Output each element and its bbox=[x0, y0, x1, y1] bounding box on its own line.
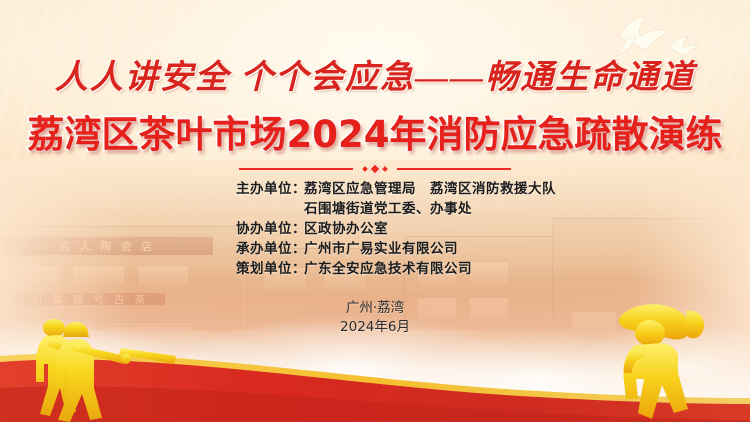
organizer-colon: ： bbox=[292, 259, 304, 279]
organizer-row: 策划单位 ： 广东全安应急技术有限公司 bbox=[0, 259, 750, 279]
organizer-label bbox=[206, 199, 292, 219]
organizer-row: 石围塘街道党工委、办事处 bbox=[0, 199, 750, 219]
organizer-value: 广州市广易实业有限公司 bbox=[304, 239, 544, 259]
divider-small-diamond bbox=[382, 166, 388, 172]
organizer-row: 协办单位 ： 区政协办公室 bbox=[0, 219, 750, 239]
organizer-label: 主办单位 bbox=[206, 179, 292, 199]
organizer-label: 承办单位 bbox=[206, 239, 292, 259]
divider-ornament bbox=[353, 163, 397, 175]
divider-diamond-icon bbox=[368, 162, 382, 176]
organizer-value: 区政协办公室 bbox=[304, 219, 544, 239]
organizer-colon: ： bbox=[292, 219, 304, 239]
organizer-colon bbox=[292, 199, 304, 219]
poster-content: 人人讲安全 个个会应急——畅通生命通道 荔湾区茶叶市场2024年消防应急疏散演练… bbox=[0, 0, 750, 422]
organizer-colon: ： bbox=[292, 239, 304, 259]
organizer-block: 主办单位 ： 荔湾区应急管理局 荔湾区消防救援大队 石围塘街道党工委、办事处 协… bbox=[0, 179, 750, 279]
organizer-row: 承办单位 ： 广州市广易实业有限公司 bbox=[0, 239, 750, 259]
poster-place: 广州·荔湾 bbox=[0, 299, 750, 318]
organizer-value: 广东全安应急技术有限公司 bbox=[304, 259, 544, 279]
organizer-colon: ： bbox=[292, 179, 304, 199]
organizer-label: 协办单位 bbox=[206, 219, 292, 239]
organizer-value: 荔湾区应急管理局 荔湾区消防救援大队 bbox=[304, 179, 544, 199]
divider-line-left bbox=[239, 168, 353, 170]
organizer-value: 石围塘街道党工委、办事处 bbox=[304, 199, 544, 219]
poster-headline: 人人讲安全 个个会应急——畅通生命通道 bbox=[0, 50, 750, 98]
organizer-label: 策划单位 bbox=[206, 259, 292, 279]
decorative-divider bbox=[239, 162, 511, 176]
divider-line-right bbox=[397, 168, 511, 170]
poster-title: 荔湾区茶叶市场2024年消防应急疏散演练 bbox=[0, 104, 750, 158]
fire-drill-poster: 吉 人 陶 瓷 店 可 馨 银 号 古 茶 普 洱 熟 茶 bbox=[0, 0, 750, 422]
organizer-row: 主办单位 ： 荔湾区应急管理局 荔湾区消防救援大队 bbox=[0, 179, 750, 199]
place-date-block: 广州·荔湾 2024年6月 bbox=[0, 299, 750, 337]
poster-date: 2024年6月 bbox=[0, 318, 750, 337]
